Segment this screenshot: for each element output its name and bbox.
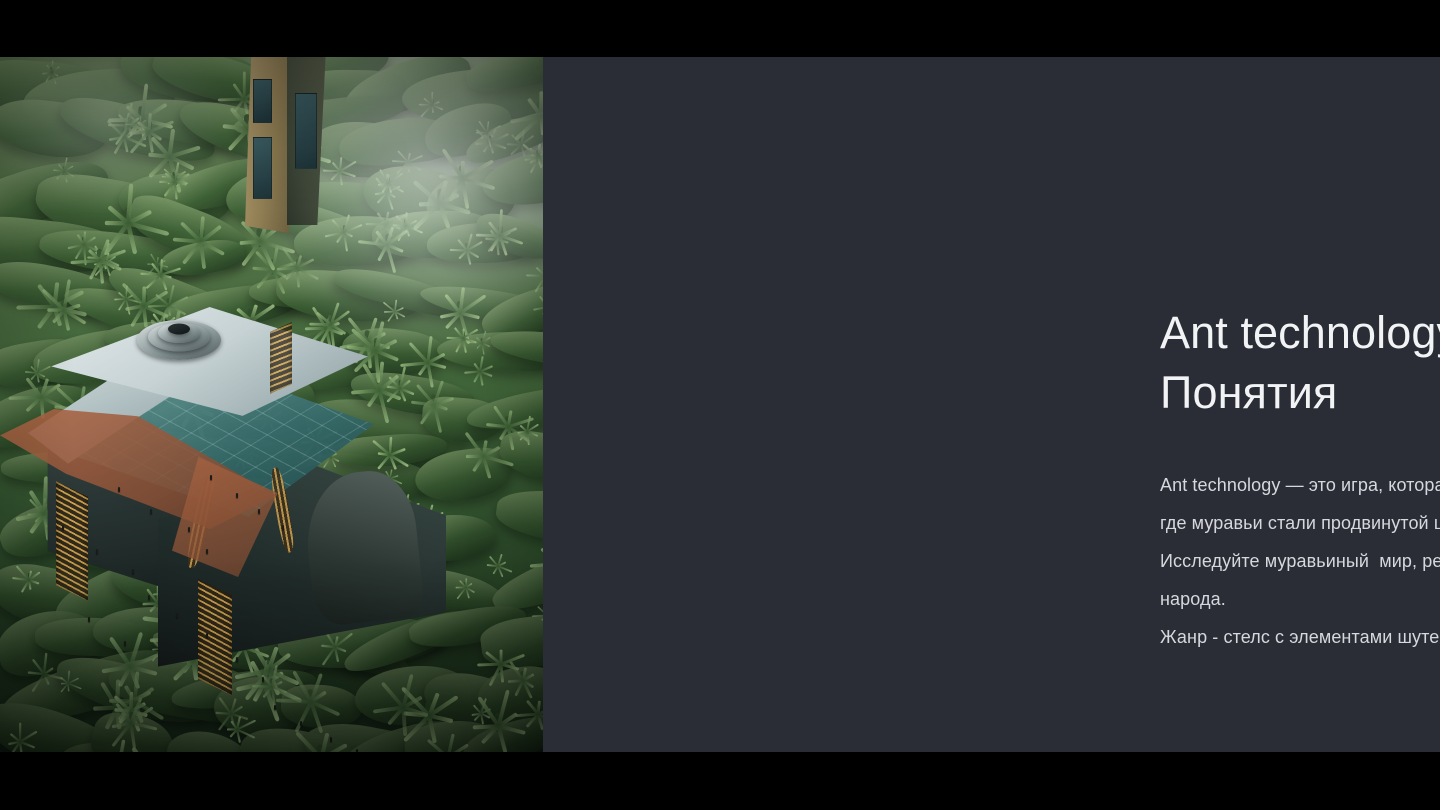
content-panel: Ant technology: Ключевые Понятия Ant tec…: [543, 57, 1440, 752]
artwork-canvas: [0, 57, 543, 752]
slide-title: Ant technology: Ключевые Понятия: [1160, 303, 1440, 424]
letterbox-bar-top: [0, 0, 1440, 57]
louver-panel: [198, 579, 232, 696]
louver-panel: [56, 481, 88, 601]
tower-window: [253, 79, 272, 123]
obelisk-tower: [245, 57, 331, 235]
tower-window: [295, 93, 317, 169]
genre-line: Жанр - стелс с элементами шутера: [1160, 618, 1440, 656]
text-content-block: Ant technology: Ключевые Понятия Ant tec…: [1160, 303, 1440, 656]
louver-panel: [270, 322, 292, 394]
slide-illustration: [0, 57, 543, 752]
mist-overlay-secondary: [0, 57, 239, 210]
tower-window: [253, 137, 272, 199]
dome-cap: [168, 324, 190, 335]
description-paragraph: Ant technology — это игра, которая предс…: [1160, 466, 1440, 618]
dome-turret: [136, 311, 222, 369]
letterbox-bar-bottom: [0, 752, 1440, 810]
slide-description: Ant technology — это игра, которая предс…: [1160, 466, 1440, 656]
presentation-slide: Ant technology: Ключевые Понятия Ant tec…: [0, 0, 1440, 810]
